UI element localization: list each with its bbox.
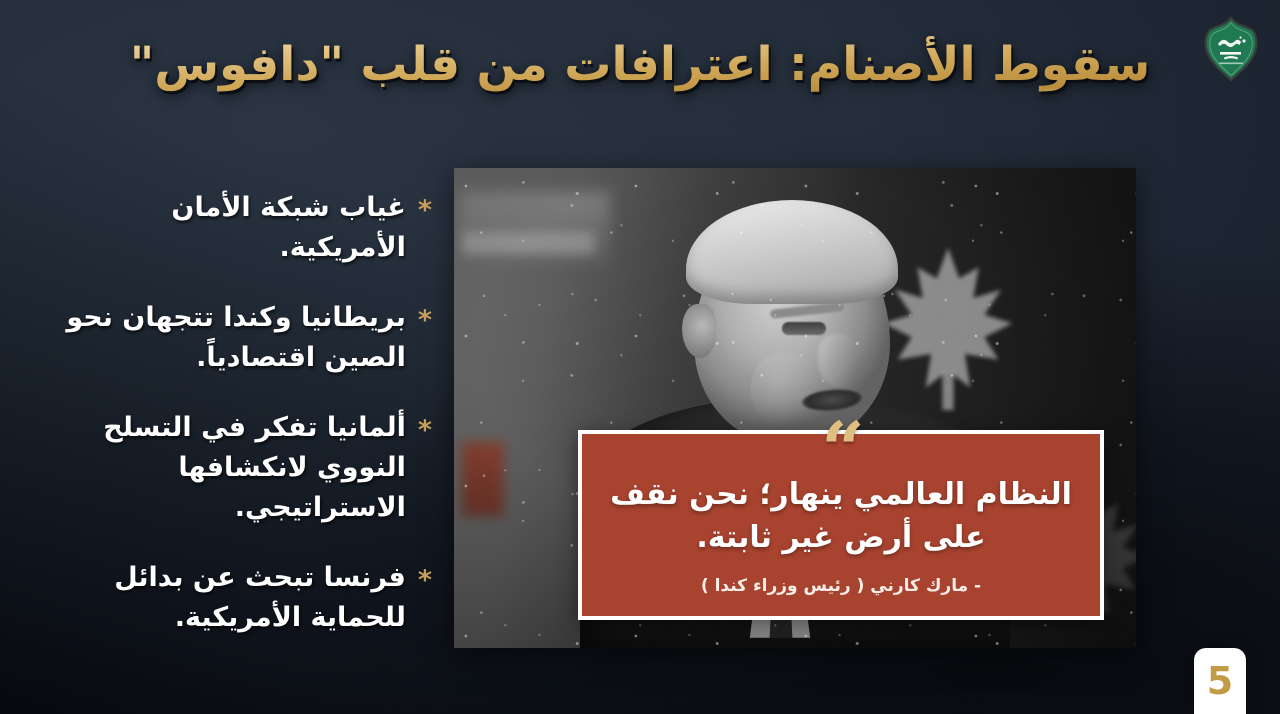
list-item: * بريطانيا وكندا تتجهان نحو الصين اقتصاد…: [46, 298, 432, 378]
page-number-badge: 5: [1194, 648, 1246, 714]
quote-card: “ النظام العالمي ينهار؛ نحن نقف على أرض …: [578, 430, 1104, 620]
bullet-text: فرنسا تبحث عن بدائل للحماية الأمريكية.: [46, 558, 406, 638]
quotation-mark-icon: “: [821, 412, 861, 488]
bullet-text: ألمانيا تفكر في التسلح النووي لانكشافها …: [46, 408, 406, 528]
list-item: * ألمانيا تفكر في التسلح النووي لانكشافه…: [46, 408, 432, 528]
list-item: * غياب شبكة الأمان الأمريكية.: [46, 188, 432, 268]
bullet-text: غياب شبكة الأمان الأمريكية.: [46, 188, 406, 268]
asterisk-bullet-icon: *: [418, 188, 432, 224]
bullet-text: بريطانيا وكندا تتجهان نحو الصين اقتصاديا…: [46, 298, 406, 378]
slide-root: سقوط الأصنام: اعترافات من قلب "دافوس" * …: [0, 0, 1280, 714]
brand-logo-icon: [1198, 14, 1264, 84]
asterisk-bullet-icon: *: [418, 408, 432, 444]
asterisk-bullet-icon: *: [418, 558, 432, 594]
asterisk-bullet-icon: *: [418, 298, 432, 334]
quote-attribution: - مارك كارني ( رئيس وزراء كندا ): [701, 576, 981, 596]
slide-title: سقوط الأصنام: اعترافات من قلب "دافوس": [120, 36, 1160, 95]
list-item: * فرنسا تبحث عن بدائل للحماية الأمريكية.: [46, 558, 432, 638]
bullet-list: * غياب شبكة الأمان الأمريكية. * بريطانيا…: [46, 188, 432, 638]
page-number: 5: [1207, 662, 1233, 700]
